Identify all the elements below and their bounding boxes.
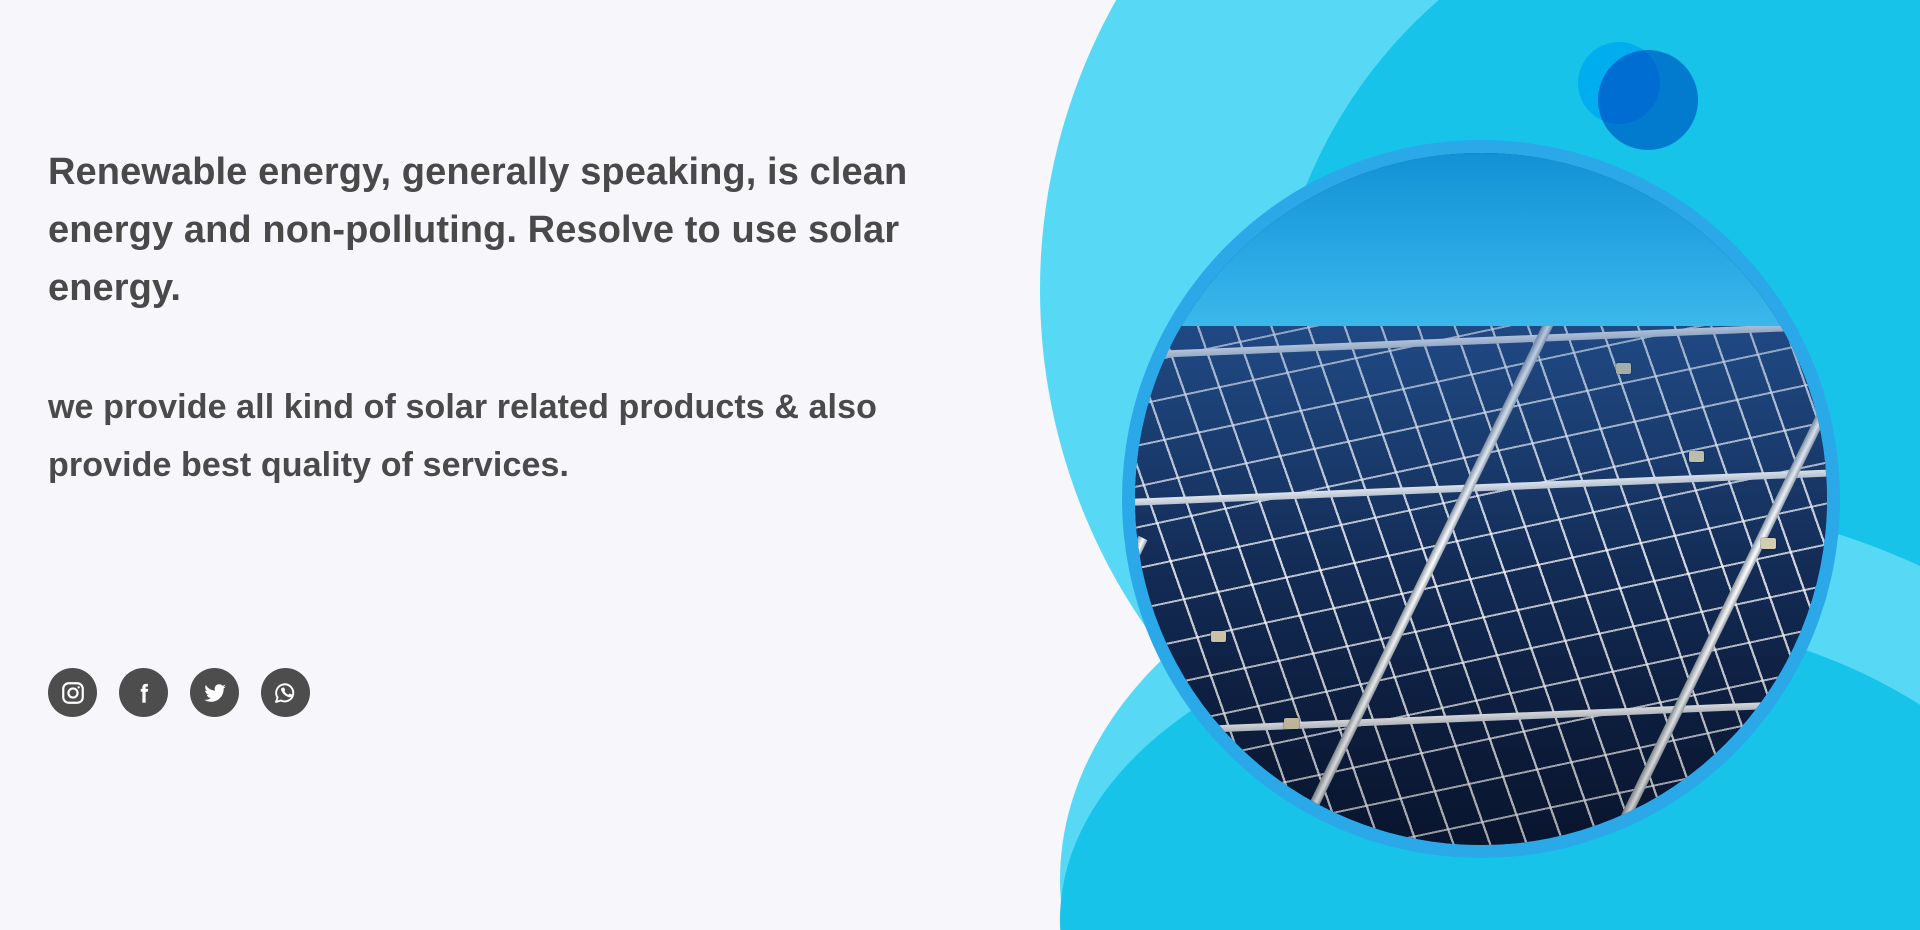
solar-panel-array-photo	[1135, 153, 1827, 845]
circle-accent-small	[1578, 42, 1660, 124]
facebook-icon	[131, 680, 157, 706]
social-link-whatsapp[interactable]	[261, 668, 310, 717]
twitter-icon	[202, 680, 228, 706]
sky-region	[1135, 153, 1827, 340]
subline-text: we provide all kind of solar related pro…	[48, 378, 928, 494]
instagram-icon	[60, 680, 86, 706]
social-link-twitter[interactable]	[190, 668, 239, 717]
social-links	[48, 668, 310, 717]
solar-photo-ring	[1122, 140, 1840, 858]
panel-shading-overlay	[1135, 326, 1827, 845]
social-link-instagram[interactable]	[48, 668, 97, 717]
whatsapp-icon	[272, 679, 299, 706]
social-link-facebook[interactable]	[119, 668, 168, 717]
circle-accent-large	[1598, 50, 1698, 150]
headline-text: Renewable energy, generally speaking, is…	[48, 143, 928, 317]
panel-field	[1135, 326, 1827, 845]
text-column: Renewable energy, generally speaking, is…	[48, 0, 968, 930]
